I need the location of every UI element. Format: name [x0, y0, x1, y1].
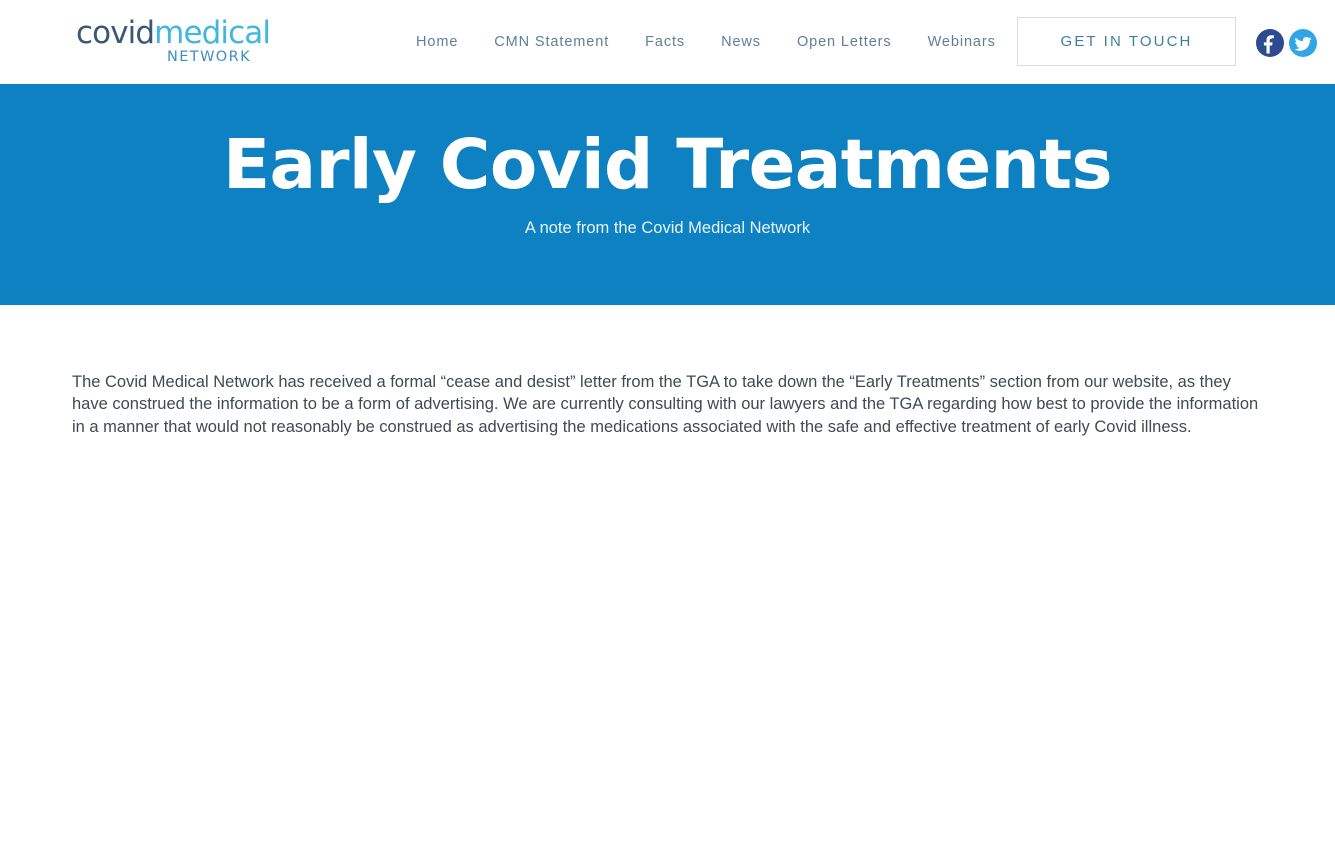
nav-item-home[interactable]: Home — [398, 34, 476, 50]
logo-text-medical: medical — [154, 15, 270, 51]
site-logo[interactable]: covidmedical NETWORK — [76, 18, 251, 65]
logo-text-network: NETWORK — [76, 50, 251, 65]
content-body: The Covid Medical Network has received a… — [0, 371, 1335, 438]
nav-item-webinars[interactable]: Webinars — [910, 34, 1014, 50]
site-header: covidmedical NETWORK Home CMN Statement … — [0, 0, 1335, 84]
facebook-glyph — [1256, 29, 1284, 57]
nav-item-news[interactable]: News — [703, 34, 779, 50]
logo-wordmark: covidmedical — [76, 18, 251, 49]
nav-item-cmn-statement[interactable]: CMN Statement — [476, 34, 627, 50]
nav-item-open-letters[interactable]: Open Letters — [779, 34, 910, 50]
get-in-touch-button[interactable]: GET IN TOUCH — [1017, 17, 1236, 66]
social-icon-list — [1256, 29, 1317, 57]
nav-item-facts[interactable]: Facts — [627, 34, 703, 50]
main-navigation: Home CMN Statement Facts News Open Lette… — [398, 34, 1014, 50]
twitter-bird-glyph — [1289, 29, 1317, 57]
logo-text-covid: covid — [76, 15, 154, 51]
page-subtitle: A note from the Covid Medical Network — [525, 219, 810, 238]
hero-banner: Early Covid Treatments A note from the C… — [0, 84, 1335, 305]
facebook-icon[interactable] — [1256, 29, 1284, 57]
page-title: Early Covid Treatments — [223, 128, 1112, 203]
notice-paragraph: The Covid Medical Network has received a… — [72, 371, 1263, 438]
main-content: The Covid Medical Network has received a… — [0, 371, 1335, 438]
twitter-icon[interactable] — [1289, 29, 1317, 57]
